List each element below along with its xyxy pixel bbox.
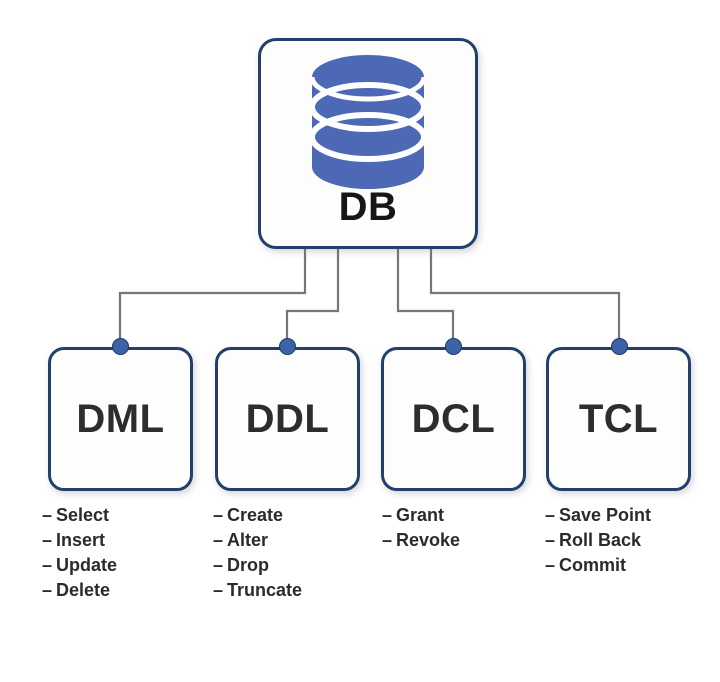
list-item: –Drop (213, 553, 302, 578)
connector-dot-dcl (445, 338, 462, 355)
bullet-dash: – (545, 553, 559, 578)
list-item: –Revoke (382, 528, 460, 553)
connector-path-dml (120, 249, 305, 346)
list-ddl-commands: –Create –Alter –Drop –Truncate (213, 503, 302, 603)
node-tcl-label: TCL (549, 350, 688, 488)
node-dml-label: DML (51, 350, 190, 488)
list-tcl-commands: –Save Point –Roll Back –Commit (545, 503, 651, 578)
list-item-label: Commit (559, 555, 626, 575)
bullet-dash: – (42, 503, 56, 528)
list-item-label: Revoke (396, 530, 460, 550)
database-cylinder-icon (261, 55, 475, 196)
node-tcl[interactable]: TCL (546, 347, 691, 491)
bullet-dash: – (545, 528, 559, 553)
list-item: –Commit (545, 553, 651, 578)
bullet-dash: – (42, 578, 56, 603)
bullet-dash: – (42, 553, 56, 578)
bullet-dash: – (545, 503, 559, 528)
db-node[interactable]: DB (258, 38, 478, 249)
connector-path-dcl (398, 249, 453, 346)
connector-dot-tcl (611, 338, 628, 355)
list-item-label: Roll Back (559, 530, 641, 550)
node-dcl[interactable]: DCL (381, 347, 526, 491)
bullet-dash: – (382, 528, 396, 553)
list-item-label: Drop (227, 555, 269, 575)
list-item-label: Insert (56, 530, 105, 550)
list-item-label: Grant (396, 505, 444, 525)
list-item: –Select (42, 503, 117, 528)
list-item: –Alter (213, 528, 302, 553)
connector-dot-dml (112, 338, 129, 355)
list-item-label: Save Point (559, 505, 651, 525)
node-ddl-label: DDL (218, 350, 357, 488)
list-item: –Insert (42, 528, 117, 553)
list-item: –Truncate (213, 578, 302, 603)
node-ddl[interactable]: DDL (215, 347, 360, 491)
list-item: –Update (42, 553, 117, 578)
node-dml[interactable]: DML (48, 347, 193, 491)
list-item-label: Update (56, 555, 117, 575)
diagram-canvas: DB DML DDL DCL TCL –Select –Insert –Upda… (0, 0, 720, 682)
list-item-label: Truncate (227, 580, 302, 600)
list-item-label: Delete (56, 580, 110, 600)
list-item: –Save Point (545, 503, 651, 528)
list-item: –Grant (382, 503, 460, 528)
list-dml-commands: –Select –Insert –Update –Delete (42, 503, 117, 603)
bullet-dash: – (213, 528, 227, 553)
bullet-dash: – (42, 528, 56, 553)
bullet-dash: – (213, 503, 227, 528)
list-item-label: Create (227, 505, 283, 525)
bullet-dash: – (213, 578, 227, 603)
db-label: DB (261, 187, 475, 227)
bullet-dash: – (213, 553, 227, 578)
node-dcl-label: DCL (384, 350, 523, 488)
connector-dot-ddl (279, 338, 296, 355)
list-item: –Create (213, 503, 302, 528)
list-item: –Roll Back (545, 528, 651, 553)
list-item-label: Select (56, 505, 109, 525)
connector-path-ddl (287, 249, 338, 346)
list-item: –Delete (42, 578, 117, 603)
list-item-label: Alter (227, 530, 268, 550)
list-dcl-commands: –Grant –Revoke (382, 503, 460, 553)
connector-path-tcl (431, 249, 619, 346)
bullet-dash: – (382, 503, 396, 528)
